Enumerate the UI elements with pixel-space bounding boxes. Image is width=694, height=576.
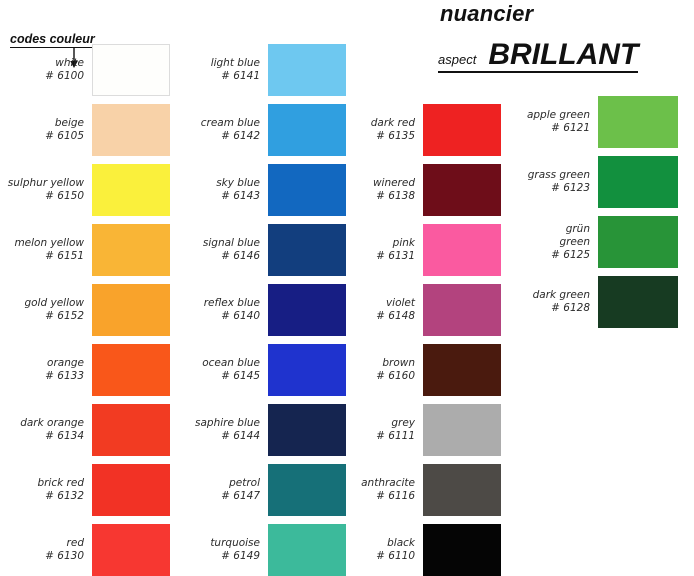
swatch-code: # 6151: [0, 250, 84, 263]
swatch-row[interactable]: dark red# 6135: [358, 104, 501, 156]
swatch-name: sky blue: [178, 177, 260, 190]
swatch-chip[interactable]: [268, 524, 346, 576]
swatch-label: saphire blue# 6144: [178, 417, 268, 443]
swatch-row[interactable]: white# 6100: [0, 44, 170, 96]
swatch-row[interactable]: orange# 6133: [0, 344, 170, 396]
swatch-label: orange# 6133: [0, 357, 92, 383]
swatch-row[interactable]: winered# 6138: [358, 164, 501, 216]
swatch-code: # 6149: [178, 550, 260, 563]
swatch-name: beige: [0, 117, 84, 130]
swatch-chip[interactable]: [92, 524, 170, 576]
swatch-row[interactable]: dark orange# 6134: [0, 404, 170, 456]
swatch-name: brick red: [0, 477, 84, 490]
swatch-row[interactable]: saphire blue# 6144: [178, 404, 346, 456]
swatch-label: reflex blue# 6140: [178, 297, 268, 323]
swatch-chip[interactable]: [92, 464, 170, 516]
swatch-code: # 6133: [0, 370, 84, 383]
swatch-code: # 6147: [178, 490, 260, 503]
swatch-label: sulphur yellow# 6150: [0, 177, 92, 203]
swatch-name: black: [358, 537, 415, 550]
swatch-row[interactable]: brown# 6160: [358, 344, 501, 396]
swatch-chip[interactable]: [268, 224, 346, 276]
swatch-name: dark orange: [0, 417, 84, 430]
swatch-chip[interactable]: [268, 104, 346, 156]
swatch-label: melon yellow# 6151: [0, 237, 92, 263]
swatch-code: # 6123: [508, 182, 590, 195]
swatch-label: signal blue# 6146: [178, 237, 268, 263]
swatch-code: # 6131: [358, 250, 415, 263]
swatch-label: violet# 6148: [358, 297, 423, 323]
swatch-label: cream blue# 6142: [178, 117, 268, 143]
swatch-label: white# 6100: [0, 57, 92, 83]
swatch-name: pink: [358, 237, 415, 250]
swatch-name: light blue: [178, 57, 260, 70]
swatch-name: saphire blue: [178, 417, 260, 430]
swatch-label: winered# 6138: [358, 177, 423, 203]
swatch-code: # 6138: [358, 190, 415, 203]
swatch-code: # 6100: [0, 70, 84, 83]
swatch-chip[interactable]: [598, 276, 678, 328]
swatch-label: turquoise# 6149: [178, 537, 268, 563]
swatch-chip[interactable]: [92, 44, 170, 96]
swatch-row[interactable]: beige# 6105: [0, 104, 170, 156]
swatch-code: # 6160: [358, 370, 415, 383]
page-title: nuancier: [440, 1, 533, 27]
swatch-code: # 6135: [358, 130, 415, 143]
swatch-row[interactable]: dark green# 6128: [508, 276, 678, 328]
swatch-code: # 6141: [178, 70, 260, 83]
swatch-name: apple green: [508, 109, 590, 122]
aspect-heading: aspect BRILLANT: [438, 40, 638, 73]
swatch-row[interactable]: ocean blue# 6145: [178, 344, 346, 396]
swatch-label: dark green# 6128: [508, 289, 598, 315]
swatch-chip[interactable]: [423, 224, 501, 276]
swatch-row[interactable]: gold yellow# 6152: [0, 284, 170, 336]
swatch-chip[interactable]: [92, 344, 170, 396]
swatch-chip[interactable]: [423, 464, 501, 516]
swatch-row[interactable]: grey# 6111: [358, 404, 501, 456]
swatch-row[interactable]: light blue# 6141: [178, 44, 346, 96]
swatch-name: dark red: [358, 117, 415, 130]
swatch-name: turquoise: [178, 537, 260, 550]
swatch-row[interactable]: cream blue# 6142: [178, 104, 346, 156]
swatch-chip[interactable]: [268, 464, 346, 516]
swatch-row[interactable]: violet# 6148: [358, 284, 501, 336]
swatch-code: # 6142: [178, 130, 260, 143]
swatch-label: light blue# 6141: [178, 57, 268, 83]
swatch-row[interactable]: red# 6130: [0, 524, 170, 576]
swatch-row[interactable]: sulphur yellow# 6150: [0, 164, 170, 216]
swatch-chip[interactable]: [268, 404, 346, 456]
swatch-chip[interactable]: [92, 104, 170, 156]
swatch-name: signal blue: [178, 237, 260, 250]
swatch-code: # 6128: [508, 302, 590, 315]
swatch-row[interactable]: pink# 6131: [358, 224, 501, 276]
swatch-code: # 6105: [0, 130, 84, 143]
swatch-row[interactable]: reflex blue# 6140: [178, 284, 346, 336]
swatch-code: # 6145: [178, 370, 260, 383]
aspect-label: aspect: [438, 52, 476, 70]
swatch-chip[interactable]: [92, 404, 170, 456]
swatch-code: # 6148: [358, 310, 415, 323]
swatch-code: # 6144: [178, 430, 260, 443]
swatch-code: # 6140: [178, 310, 260, 323]
swatch-label: ocean blue# 6145: [178, 357, 268, 383]
swatch-chip[interactable]: [268, 164, 346, 216]
swatch-code: # 6130: [0, 550, 84, 563]
swatch-name: red: [0, 537, 84, 550]
swatch-chip[interactable]: [423, 104, 501, 156]
swatch-name: winered: [358, 177, 415, 190]
swatch-row[interactable]: signal blue# 6146: [178, 224, 346, 276]
swatch-row[interactable]: grass green# 6123: [508, 156, 678, 208]
swatch-name: grass green: [508, 169, 590, 182]
swatch-code: # 6152: [0, 310, 84, 323]
swatch-code: # 6134: [0, 430, 84, 443]
swatch-name: white: [0, 57, 84, 70]
swatch-label: petrol# 6147: [178, 477, 268, 503]
swatch-row[interactable]: anthracite# 6116: [358, 464, 501, 516]
swatch-label: brick red# 6132: [0, 477, 92, 503]
swatch-chip[interactable]: [598, 96, 678, 148]
swatch-label: grüngreen# 6125: [508, 223, 598, 262]
swatch-name: green: [508, 236, 590, 249]
swatch-chip[interactable]: [423, 284, 501, 336]
swatch-chip[interactable]: [598, 156, 678, 208]
swatch-label: gold yellow# 6152: [0, 297, 92, 323]
swatch-name: grün: [508, 223, 590, 236]
swatch-code: # 6110: [358, 550, 415, 563]
swatch-name: brown: [358, 357, 415, 370]
swatch-chip[interactable]: [268, 44, 346, 96]
swatch-row[interactable]: brick red# 6132: [0, 464, 170, 516]
swatch-chip[interactable]: [423, 164, 501, 216]
swatch-name: grey: [358, 417, 415, 430]
swatch-row[interactable]: turquoise# 6149: [178, 524, 346, 576]
swatch-name: anthracite: [358, 477, 415, 490]
swatch-code: # 6132: [0, 490, 84, 503]
swatch-chip[interactable]: [423, 404, 501, 456]
swatch-chip[interactable]: [423, 524, 501, 576]
swatch-chip[interactable]: [268, 344, 346, 396]
swatch-chip[interactable]: [268, 284, 346, 336]
swatch-row[interactable]: apple green# 6121: [508, 96, 678, 148]
swatch-row[interactable]: melon yellow# 6151: [0, 224, 170, 276]
swatch-chip[interactable]: [423, 344, 501, 396]
swatch-name: violet: [358, 297, 415, 310]
swatch-name: ocean blue: [178, 357, 260, 370]
swatch-code: # 6116: [358, 490, 415, 503]
swatch-name: melon yellow: [0, 237, 84, 250]
swatch-row[interactable]: petrol# 6147: [178, 464, 346, 516]
swatch-row[interactable]: grüngreen# 6125: [508, 216, 678, 268]
swatch-name: cream blue: [178, 117, 260, 130]
swatch-label: black# 6110: [358, 537, 423, 563]
swatch-chip[interactable]: [92, 224, 170, 276]
swatch-name: reflex blue: [178, 297, 260, 310]
swatch-row[interactable]: black# 6110: [358, 524, 501, 576]
swatch-label: anthracite# 6116: [358, 477, 423, 503]
swatch-label: dark red# 6135: [358, 117, 423, 143]
swatch-code: # 6143: [178, 190, 260, 203]
swatch-code: # 6111: [358, 430, 415, 443]
swatch-name: petrol: [178, 477, 260, 490]
swatch-name: gold yellow: [0, 297, 84, 310]
swatch-name: sulphur yellow: [0, 177, 84, 190]
swatch-chip[interactable]: [92, 164, 170, 216]
swatch-name: dark green: [508, 289, 590, 302]
swatch-code: # 6125: [508, 249, 590, 262]
swatch-code: # 6146: [178, 250, 260, 263]
swatch-label: pink# 6131: [358, 237, 423, 263]
swatch-code: # 6150: [0, 190, 84, 203]
swatch-name: orange: [0, 357, 84, 370]
swatch-label: apple green# 6121: [508, 109, 598, 135]
swatch-row[interactable]: sky blue# 6143: [178, 164, 346, 216]
swatch-label: beige# 6105: [0, 117, 92, 143]
swatch-label: sky blue# 6143: [178, 177, 268, 203]
aspect-value: BRILLANT: [488, 40, 638, 70]
swatch-code: # 6121: [508, 122, 590, 135]
swatch-label: grass green# 6123: [508, 169, 598, 195]
swatch-chip[interactable]: [598, 216, 678, 268]
swatch-label: dark orange# 6134: [0, 417, 92, 443]
swatch-label: red# 6130: [0, 537, 92, 563]
swatch-label: grey# 6111: [358, 417, 423, 443]
swatch-chip[interactable]: [92, 284, 170, 336]
swatch-label: brown# 6160: [358, 357, 423, 383]
